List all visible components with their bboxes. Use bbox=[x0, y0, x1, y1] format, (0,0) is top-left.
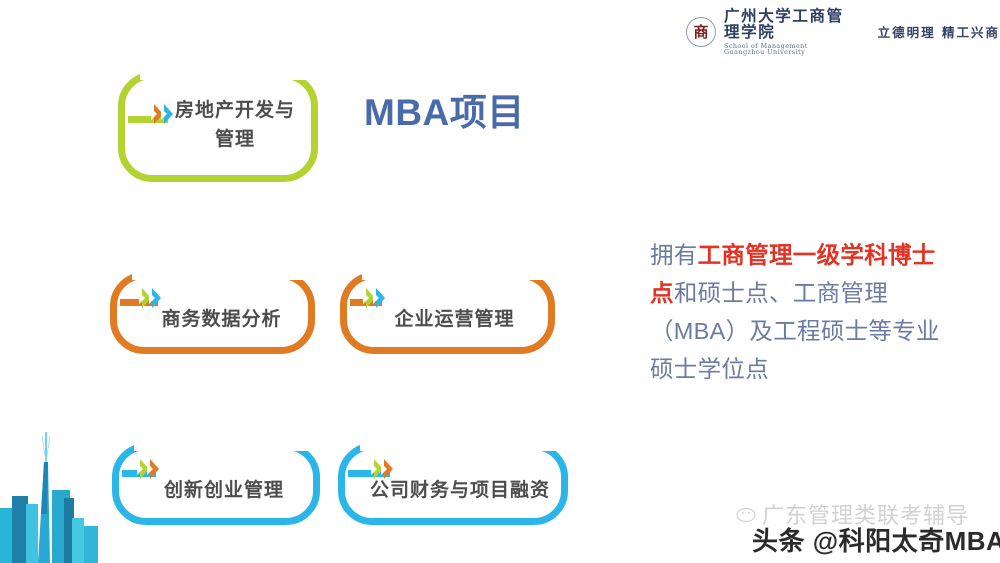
watermark-author: 头条 @科阳太奇MBA bbox=[752, 521, 1000, 558]
info-text-part1: 拥有 bbox=[650, 242, 698, 268]
program-label: 企业运营管理 bbox=[354, 305, 555, 334]
skyline-svg bbox=[0, 418, 98, 563]
program-label: 房地产开发与管理 bbox=[152, 96, 318, 155]
program-card-operations: 企业运营管理 bbox=[340, 272, 555, 354]
institution-name-en: School of Management Guangzhou Universit… bbox=[724, 43, 846, 56]
header-logo: 商 广州大学工商管理学院 School of Management Guangz… bbox=[686, 8, 1000, 56]
frame-notch bbox=[134, 434, 320, 451]
institution-name-cn: 广州大学工商管理学院 bbox=[724, 8, 846, 41]
program-label: 商务数据分析 bbox=[128, 305, 315, 334]
program-label: 创新创业管理 bbox=[128, 476, 320, 505]
info-paragraph: 拥有工商管理一级学科博士点和硕士点、工商管理（MBA）及工程硕士等专业硕士学位点 bbox=[650, 236, 942, 388]
frame-notch bbox=[360, 434, 560, 451]
frame-notch bbox=[362, 263, 552, 280]
institution-motto: 立德明理 精工兴商 bbox=[878, 22, 1000, 41]
program-label: 公司财务与项目融资 bbox=[352, 476, 568, 505]
seal-character: 商 bbox=[693, 21, 708, 42]
program-card-innovation: 创新创业管理 bbox=[112, 443, 320, 525]
frame-notch bbox=[140, 63, 326, 80]
program-card-real-estate: 房地产开发与管理 bbox=[118, 72, 318, 182]
university-seal-icon: 商 bbox=[686, 17, 716, 47]
program-card-finance: 公司财务与项目融资 bbox=[338, 443, 568, 525]
frame-notch bbox=[132, 263, 312, 280]
page-title: MBA项目 bbox=[364, 82, 525, 136]
guangzhou-skyline-image bbox=[0, 418, 98, 563]
logo-text-block: 广州大学工商管理学院 School of Management Guangzho… bbox=[724, 8, 846, 56]
info-text-part2: 和硕士点、工商管理（MBA）及工程硕士等专业硕士学位点 bbox=[650, 280, 940, 382]
program-card-data-analysis: 商务数据分析 bbox=[110, 272, 315, 354]
